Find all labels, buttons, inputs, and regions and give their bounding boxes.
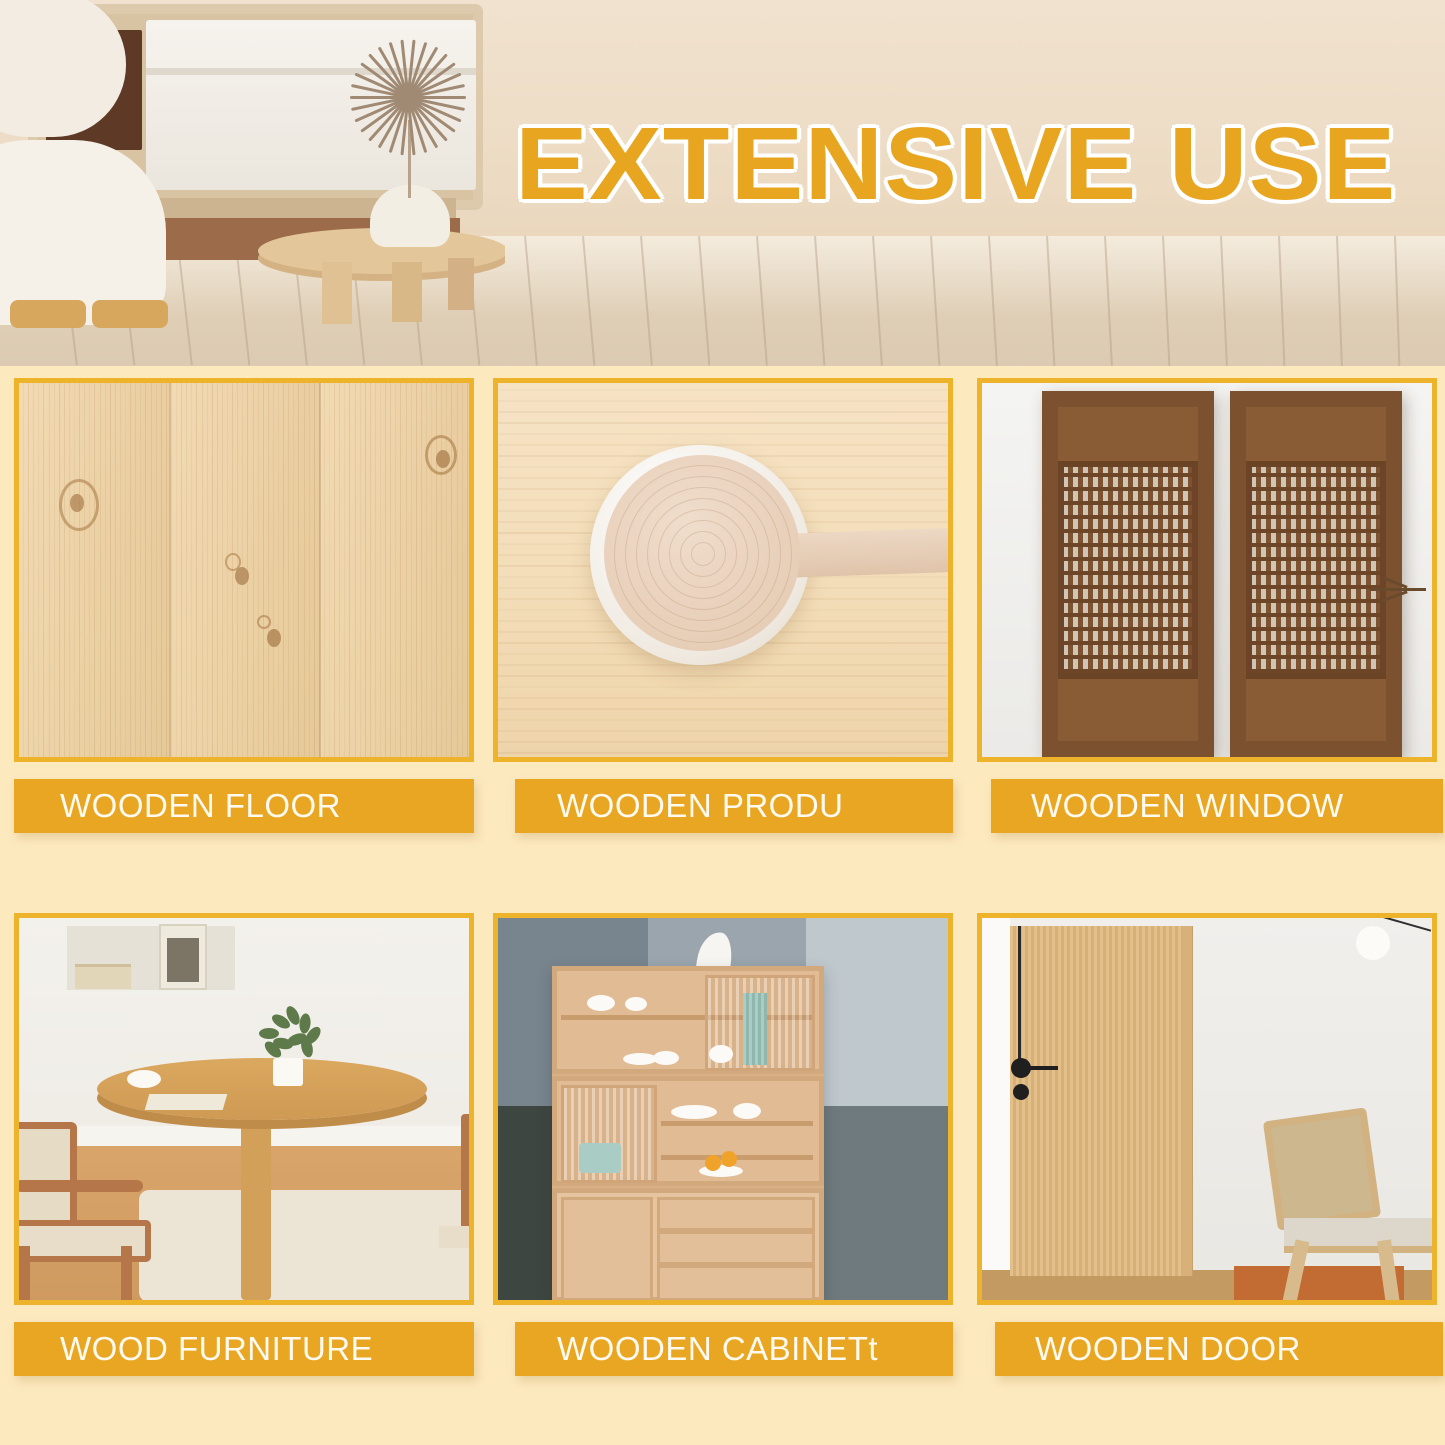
ceramic-bowl	[625, 997, 647, 1011]
lattice-grid	[1064, 467, 1192, 673]
card-label-bar: WOODEN FLOOR	[14, 779, 474, 833]
side-wall	[982, 918, 1010, 1300]
card-label: WOODEN PRODU	[515, 787, 844, 825]
use-case-card-wooden-cabinet[interactable]: WOODEN CABINETt	[493, 913, 953, 1376]
coffee-table-leg	[448, 258, 474, 310]
book-on-table	[145, 1094, 228, 1110]
chair-back	[1263, 1107, 1381, 1230]
cup	[733, 1103, 761, 1119]
wooden-door-photo	[977, 913, 1437, 1305]
card-label-bar: WOODEN PRODU	[515, 779, 953, 833]
page-title: EXTENSIVE USE	[0, 112, 1445, 216]
use-case-card-wooden-product[interactable]: WOODEN PRODU	[493, 378, 953, 833]
chair-back	[14, 1122, 77, 1228]
chair-leg	[121, 1246, 132, 1305]
card-label-bar: WOODEN DOOR	[995, 1322, 1443, 1376]
potted-plant-icon	[257, 1010, 321, 1062]
use-case-card-wooden-floor[interactable]: WOODEN FLOOR	[14, 378, 474, 833]
orange-fruit	[721, 1151, 737, 1167]
plate	[671, 1105, 717, 1119]
table-pedestal	[241, 1104, 271, 1300]
chair-back	[461, 1114, 474, 1230]
round-table-top	[97, 1058, 427, 1120]
area-rug	[139, 1190, 474, 1302]
display-cabinet	[552, 966, 824, 1302]
cup	[653, 1051, 679, 1065]
card-label: WOODEN WINDOW	[991, 787, 1344, 825]
framed-art	[159, 924, 207, 990]
card-label-bar: WOODEN CABINETt	[515, 1322, 953, 1376]
chair-seat	[439, 1226, 474, 1248]
door-lock-icon[interactable]	[1013, 1084, 1029, 1100]
cabinet-middle-section	[552, 1076, 824, 1186]
plant-pot	[273, 1058, 303, 1086]
chair-arm	[15, 1180, 143, 1192]
panel-bottom-rail	[1058, 673, 1198, 741]
panel-bottom-rail	[1246, 673, 1386, 741]
card-label: WOODEN FLOOR	[14, 787, 341, 825]
wooden-spoon-head	[604, 455, 800, 651]
wood-furniture-photo	[14, 913, 474, 1305]
lattice-window-panel	[1230, 391, 1402, 757]
use-case-card-wooden-door[interactable]: WOODEN DOOR	[977, 913, 1437, 1376]
rattan-lounge-chair	[1260, 1114, 1437, 1302]
chair-leg	[19, 1246, 30, 1305]
door-trim-line	[1018, 926, 1021, 1066]
wooden-window-photo	[977, 378, 1437, 762]
cabinet-drawer	[657, 1231, 815, 1265]
coffee-table-leg	[322, 262, 352, 324]
door-jamb	[1182, 926, 1192, 1276]
green-vase	[743, 993, 767, 1065]
panel-top-rail	[1058, 407, 1198, 467]
saucer	[623, 1053, 657, 1065]
orange-fruit	[705, 1155, 721, 1171]
coffee-table-leg	[392, 262, 422, 322]
wooden-product-photo	[493, 378, 953, 762]
cabinet-shelf	[661, 1155, 813, 1160]
dried-twig-icon	[1370, 588, 1426, 591]
card-label: WOODEN CABINETt	[515, 1330, 878, 1368]
wooden-floor-photo	[14, 378, 474, 762]
hero-banner: EXTENSIVE USE	[0, 0, 1445, 366]
stacked-books	[75, 964, 131, 989]
infographic-page: EXTENSIVE USE WOODEN FLOOR	[0, 0, 1445, 1445]
light-wall-panel	[806, 918, 953, 1106]
cabinet-door	[561, 1197, 653, 1301]
lattice-grid	[1252, 467, 1380, 673]
globe-pendant-lamp	[1356, 926, 1390, 960]
card-label: WOOD FURNITURE	[14, 1330, 373, 1368]
armchair-leg	[92, 300, 168, 328]
cabinet-top-section	[552, 966, 824, 1074]
oak-door	[1010, 926, 1193, 1276]
card-label-bar: WOODEN WINDOW	[991, 779, 1443, 833]
wooden-armchair	[14, 1122, 177, 1302]
wooden-cabinet-photo	[493, 913, 953, 1305]
lattice-window-panel	[1042, 391, 1214, 757]
card-label-bar: WOOD FURNITURE	[14, 1322, 474, 1376]
use-case-card-wood-furniture[interactable]: WOOD FURNITURE	[14, 913, 474, 1376]
mug	[709, 1045, 733, 1063]
door-latch	[1026, 1066, 1058, 1070]
cabinet-bottom-section	[552, 1188, 824, 1302]
panel-top-rail	[1246, 407, 1386, 467]
green-pot	[579, 1143, 621, 1173]
cabinet-shelf	[661, 1121, 813, 1126]
ceramic-bowl	[587, 995, 615, 1011]
armchair-leg	[10, 300, 86, 328]
cabinet-drawer	[657, 1265, 815, 1301]
use-case-grid: WOODEN FLOOR WOODEN PRODU	[0, 366, 1445, 1445]
pine-plank-texture	[19, 383, 469, 757]
second-chair	[439, 1114, 474, 1302]
use-case-card-wooden-window[interactable]: WOODEN WINDOW	[977, 378, 1437, 833]
cabinet-drawer	[657, 1197, 815, 1231]
coffee-cup	[127, 1070, 161, 1088]
card-label: WOODEN DOOR	[995, 1330, 1301, 1368]
